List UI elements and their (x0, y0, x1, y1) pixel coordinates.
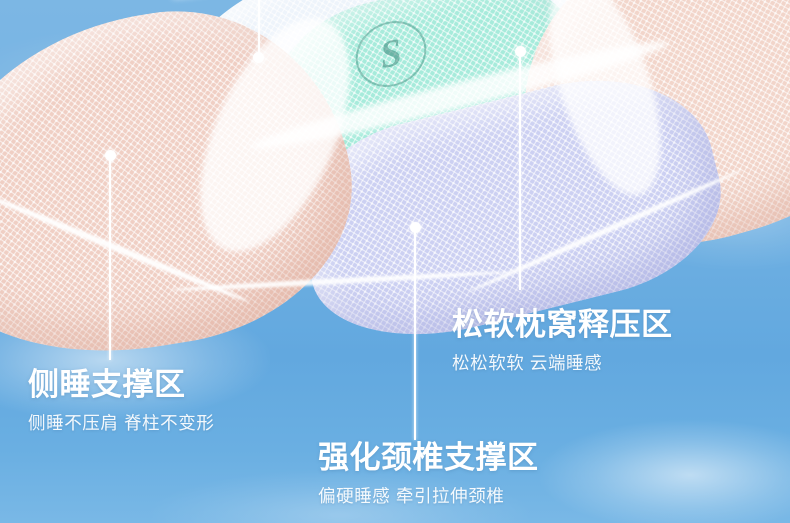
label-side-sleep: 侧睡支撑区 侧睡不压肩 脊柱不变形 (28, 368, 214, 435)
label-title: 侧睡支撑区 (28, 368, 214, 403)
label-pillow-hollow: 松软枕窝释压区 松松软软 云端睡感 (452, 308, 673, 375)
pillow-illustration: S (0, 0, 790, 310)
label-cervical-support: 强化颈椎支撑区 偏硬睡感 牵引拉伸颈椎 (318, 441, 539, 508)
leader-line (414, 232, 416, 440)
leader-line (519, 56, 521, 290)
leader-dot (253, 52, 264, 63)
leader-line (109, 160, 111, 360)
label-title: 强化颈椎支撑区 (318, 441, 539, 476)
label-title: 松软枕窝释压区 (452, 308, 673, 343)
product-infographic: S 侧睡支撑区 侧睡不压肩 脊柱不变形 松软枕窝释压区 松松软软 云端睡感 强化… (0, 0, 790, 523)
label-subtitle: 偏硬睡感 牵引拉伸颈椎 (318, 483, 539, 508)
label-subtitle: 松松软软 云端睡感 (452, 350, 673, 375)
label-subtitle: 侧睡不压肩 脊柱不变形 (28, 410, 214, 435)
